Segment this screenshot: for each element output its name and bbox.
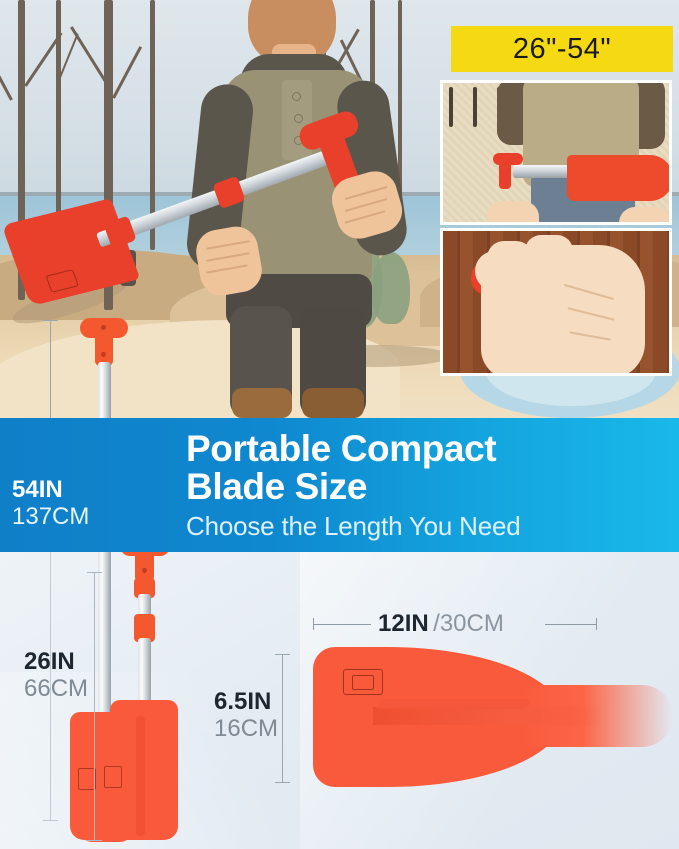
product-infographic: 26"-54"	[0, 0, 679, 849]
paddle-handle-stem	[95, 332, 113, 366]
right-boot	[302, 388, 364, 418]
measurement-26in: 26IN 66CM	[24, 648, 88, 702]
dimension-cap	[313, 618, 314, 630]
blade-detail-illustration	[313, 647, 653, 787]
right-hand	[619, 207, 671, 225]
dimension-line-26in	[94, 572, 95, 840]
inset-photo-handle-grip	[440, 228, 672, 376]
measurement-6in-inches: 6.5IN	[214, 688, 278, 715]
dimension-line-12in-left	[313, 624, 371, 625]
left-hand	[487, 201, 539, 225]
paddle-handle-stem	[499, 155, 511, 189]
measurement-54in-inches: 54IN	[12, 476, 89, 503]
measurement-12in-cm: /30CM	[433, 610, 504, 637]
handle-rivet	[142, 568, 147, 573]
left-boot	[232, 388, 292, 418]
fence-post	[473, 87, 477, 127]
measurement-12in: 12IN /30CM	[378, 610, 504, 638]
dimension-line-6in	[282, 654, 283, 782]
paddle-shaft	[513, 165, 575, 178]
measurement-54in: 54IN 137CM	[12, 476, 89, 530]
inset-photo-holding-paddle	[440, 80, 672, 225]
dimension-cap	[87, 840, 102, 841]
measurement-12in-inches: 12IN	[378, 610, 429, 637]
dimension-line-12in-right	[545, 624, 597, 625]
measurement-6in-cm: 16CM	[214, 715, 278, 742]
measurement-54in-cm: 137CM	[12, 503, 89, 530]
banner-title-line2: Blade Size	[186, 468, 656, 506]
headline-banner: Portable Compact Blade Size Choose the L…	[0, 418, 679, 552]
dimension-cap	[43, 320, 58, 321]
length-range-text: 26"-54"	[513, 33, 611, 66]
handle-rivet	[101, 352, 106, 357]
length-range-badge: 26"-54"	[451, 26, 673, 72]
dimension-cap	[43, 820, 58, 821]
knuckle	[525, 235, 573, 267]
dimension-cap	[596, 618, 597, 630]
dimension-cap	[275, 782, 290, 783]
measurement-26in-cm: 66CM	[24, 675, 88, 702]
fence-post	[449, 87, 453, 127]
blade-rib	[373, 707, 603, 725]
dimension-cap	[87, 572, 102, 573]
blade-rib	[136, 716, 145, 836]
blade-rib-upper	[376, 699, 532, 709]
paddle-blade	[567, 155, 672, 201]
banner-subtitle: Choose the Length You Need	[186, 511, 656, 541]
banner-title-line1: Portable Compact	[186, 430, 656, 468]
dimension-cap	[275, 654, 290, 655]
blade-brand-mark	[104, 766, 122, 788]
collapsed-paddle	[499, 149, 672, 201]
thumb	[475, 251, 533, 291]
measurement-6in: 6.5IN 16CM	[214, 688, 278, 742]
measurement-26in-inches: 26IN	[24, 648, 88, 675]
blade-brand-mark	[343, 669, 383, 695]
handle-rivet	[101, 325, 106, 330]
blade-brand-mark	[46, 269, 79, 293]
